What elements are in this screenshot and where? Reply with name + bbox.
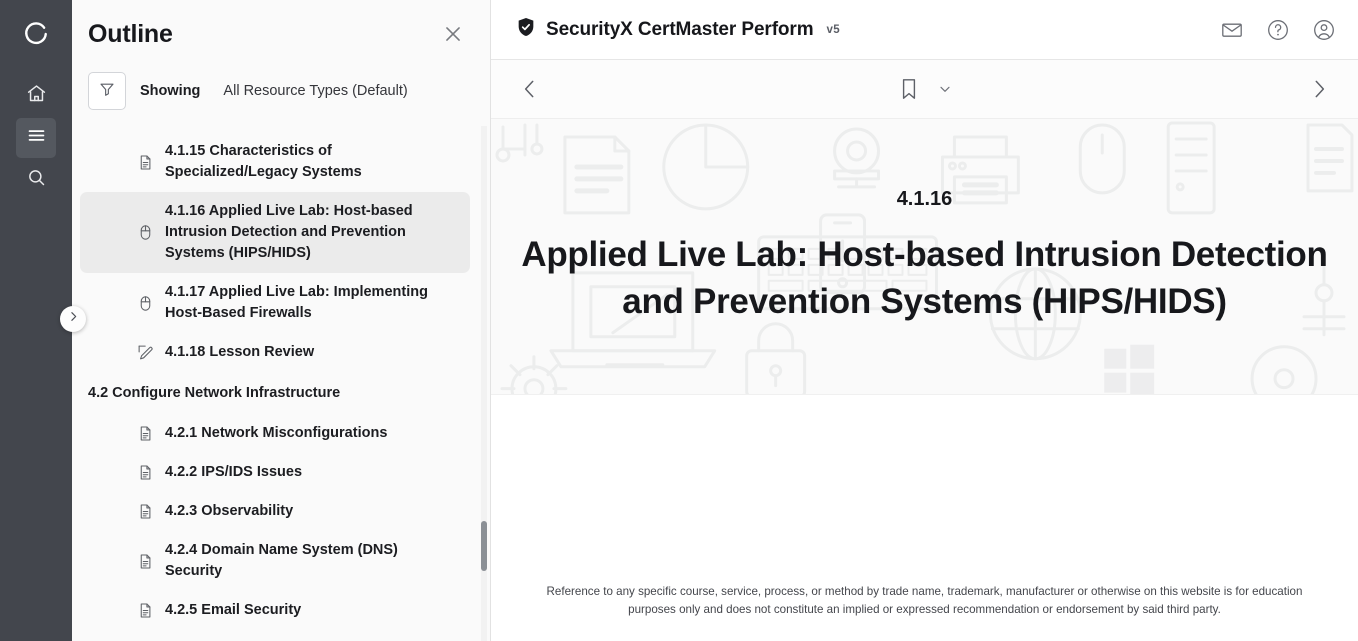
lesson-title: Applied Live Lab: Host-based Intrusion D…	[491, 231, 1358, 325]
document-icon	[136, 602, 154, 620]
version-badge: v5	[827, 24, 840, 36]
bookmark-icon[interactable]	[897, 76, 921, 102]
logo-c-icon[interactable]	[16, 14, 56, 54]
showing-label: Showing	[140, 83, 200, 99]
brand: SecurityX CertMaster Perform v5	[515, 16, 1220, 43]
outline-item-selected[interactable]: 4.1.16 Applied Live Lab: Host-based Intr…	[80, 192, 470, 273]
mouse-icon	[136, 294, 154, 312]
bookmark-controls	[491, 76, 1358, 102]
search-icon	[26, 167, 47, 193]
document-icon	[136, 552, 154, 570]
outline-group-header[interactable]: 4.2 Configure Network Infrastructure	[72, 372, 478, 414]
filter-button[interactable]	[88, 72, 126, 110]
hamburger-menu-icon	[26, 125, 47, 151]
document-icon	[136, 503, 154, 521]
outline-item[interactable]: 4.2.1 Network Misconfigurations	[80, 414, 470, 453]
home-icon	[26, 83, 47, 109]
outline-item[interactable]: 4.2.5 Email Security	[80, 591, 470, 630]
filter-funnel-icon	[98, 80, 116, 103]
outline-item-label: 4.2.3 Observability	[138, 501, 293, 522]
lesson-body: Reference to any specific course, servic…	[491, 395, 1358, 641]
rail-item-outline[interactable]	[16, 118, 56, 158]
content-navbar	[491, 60, 1358, 119]
next-page-button[interactable]	[1306, 76, 1332, 102]
mail-icon[interactable]	[1220, 18, 1244, 42]
close-icon[interactable]	[440, 21, 466, 47]
main-content: SecurityX CertMaster Perform v5	[491, 0, 1358, 641]
filter-row: Showing All Resource Types (Default)	[72, 68, 490, 126]
header-actions	[1220, 18, 1336, 42]
outline-item[interactable]: 4.1.17 Applied Live Lab: Implementing Ho…	[80, 273, 470, 333]
document-icon	[136, 153, 154, 171]
lesson-hero-banner: 4.1.16 Applied Live Lab: Host-based Intr…	[491, 119, 1358, 395]
document-icon	[136, 425, 154, 443]
shield-check-icon	[515, 16, 537, 43]
left-nav-rail	[0, 0, 72, 641]
chevron-down-icon[interactable]	[937, 81, 953, 97]
previous-page-button[interactable]	[517, 76, 543, 102]
pencil-edit-icon	[136, 344, 154, 362]
outline-item[interactable]: 4.2.4 Domain Name System (DNS) Security	[80, 531, 470, 591]
showing-value[interactable]: All Resource Types (Default)	[223, 83, 407, 99]
product-name: SecurityX CertMaster Perform	[546, 19, 814, 41]
outline-item[interactable]: 4.1.15 Characteristics of Specialized/Le…	[80, 132, 470, 192]
outline-item-label: 4.2.4 Domain Name System (DNS) Security	[138, 540, 458, 582]
outline-item[interactable]: 4.2.6 Cryptography Issues	[80, 630, 470, 641]
outline-item-label: 4.2.1 Network Misconfigurations	[138, 423, 387, 444]
app-header: SecurityX CertMaster Perform v5	[491, 0, 1358, 60]
outline-item[interactable]: 4.2.2 IPS/IDS Issues	[80, 453, 470, 492]
outline-item-label: 4.1.16 Applied Live Lab: Host-based Intr…	[138, 201, 458, 264]
disclaimer-text: Reference to any specific course, servic…	[491, 583, 1358, 619]
user-account-icon[interactable]	[1312, 18, 1336, 42]
lesson-number: 4.1.16	[897, 188, 953, 211]
outline-panel: Outline Showing All Resource Types (Defa…	[72, 0, 491, 641]
collapse-panel-button[interactable]	[60, 306, 86, 332]
outline-scrollbar-thumb[interactable]	[481, 521, 487, 571]
outline-item[interactable]: 4.2.3 Observability	[80, 492, 470, 531]
document-icon	[136, 464, 154, 482]
outline-item-label: 4.1.17 Applied Live Lab: Implementing Ho…	[138, 282, 458, 324]
help-circle-icon[interactable]	[1266, 18, 1290, 42]
app-root: Outline Showing All Resource Types (Defa…	[0, 0, 1358, 641]
page-title: Outline	[88, 20, 440, 49]
outline-item-label: 4.1.15 Characteristics of Specialized/Le…	[138, 141, 458, 183]
chevron-right-icon	[67, 310, 80, 328]
outline-item-label: 4.1.18 Lesson Review	[138, 342, 314, 363]
outline-item-label: 4.2.2 IPS/IDS Issues	[138, 462, 302, 483]
rail-item-home[interactable]	[16, 76, 56, 116]
outline-header: Outline	[72, 0, 490, 68]
outline-list: 4.1.15 Characteristics of Specialized/Le…	[72, 126, 490, 641]
mouse-icon	[136, 224, 154, 242]
outline-item[interactable]: 4.1.18 Lesson Review	[80, 333, 470, 372]
outline-item-label: 4.2.5 Email Security	[138, 600, 301, 621]
rail-item-search[interactable]	[16, 160, 56, 200]
